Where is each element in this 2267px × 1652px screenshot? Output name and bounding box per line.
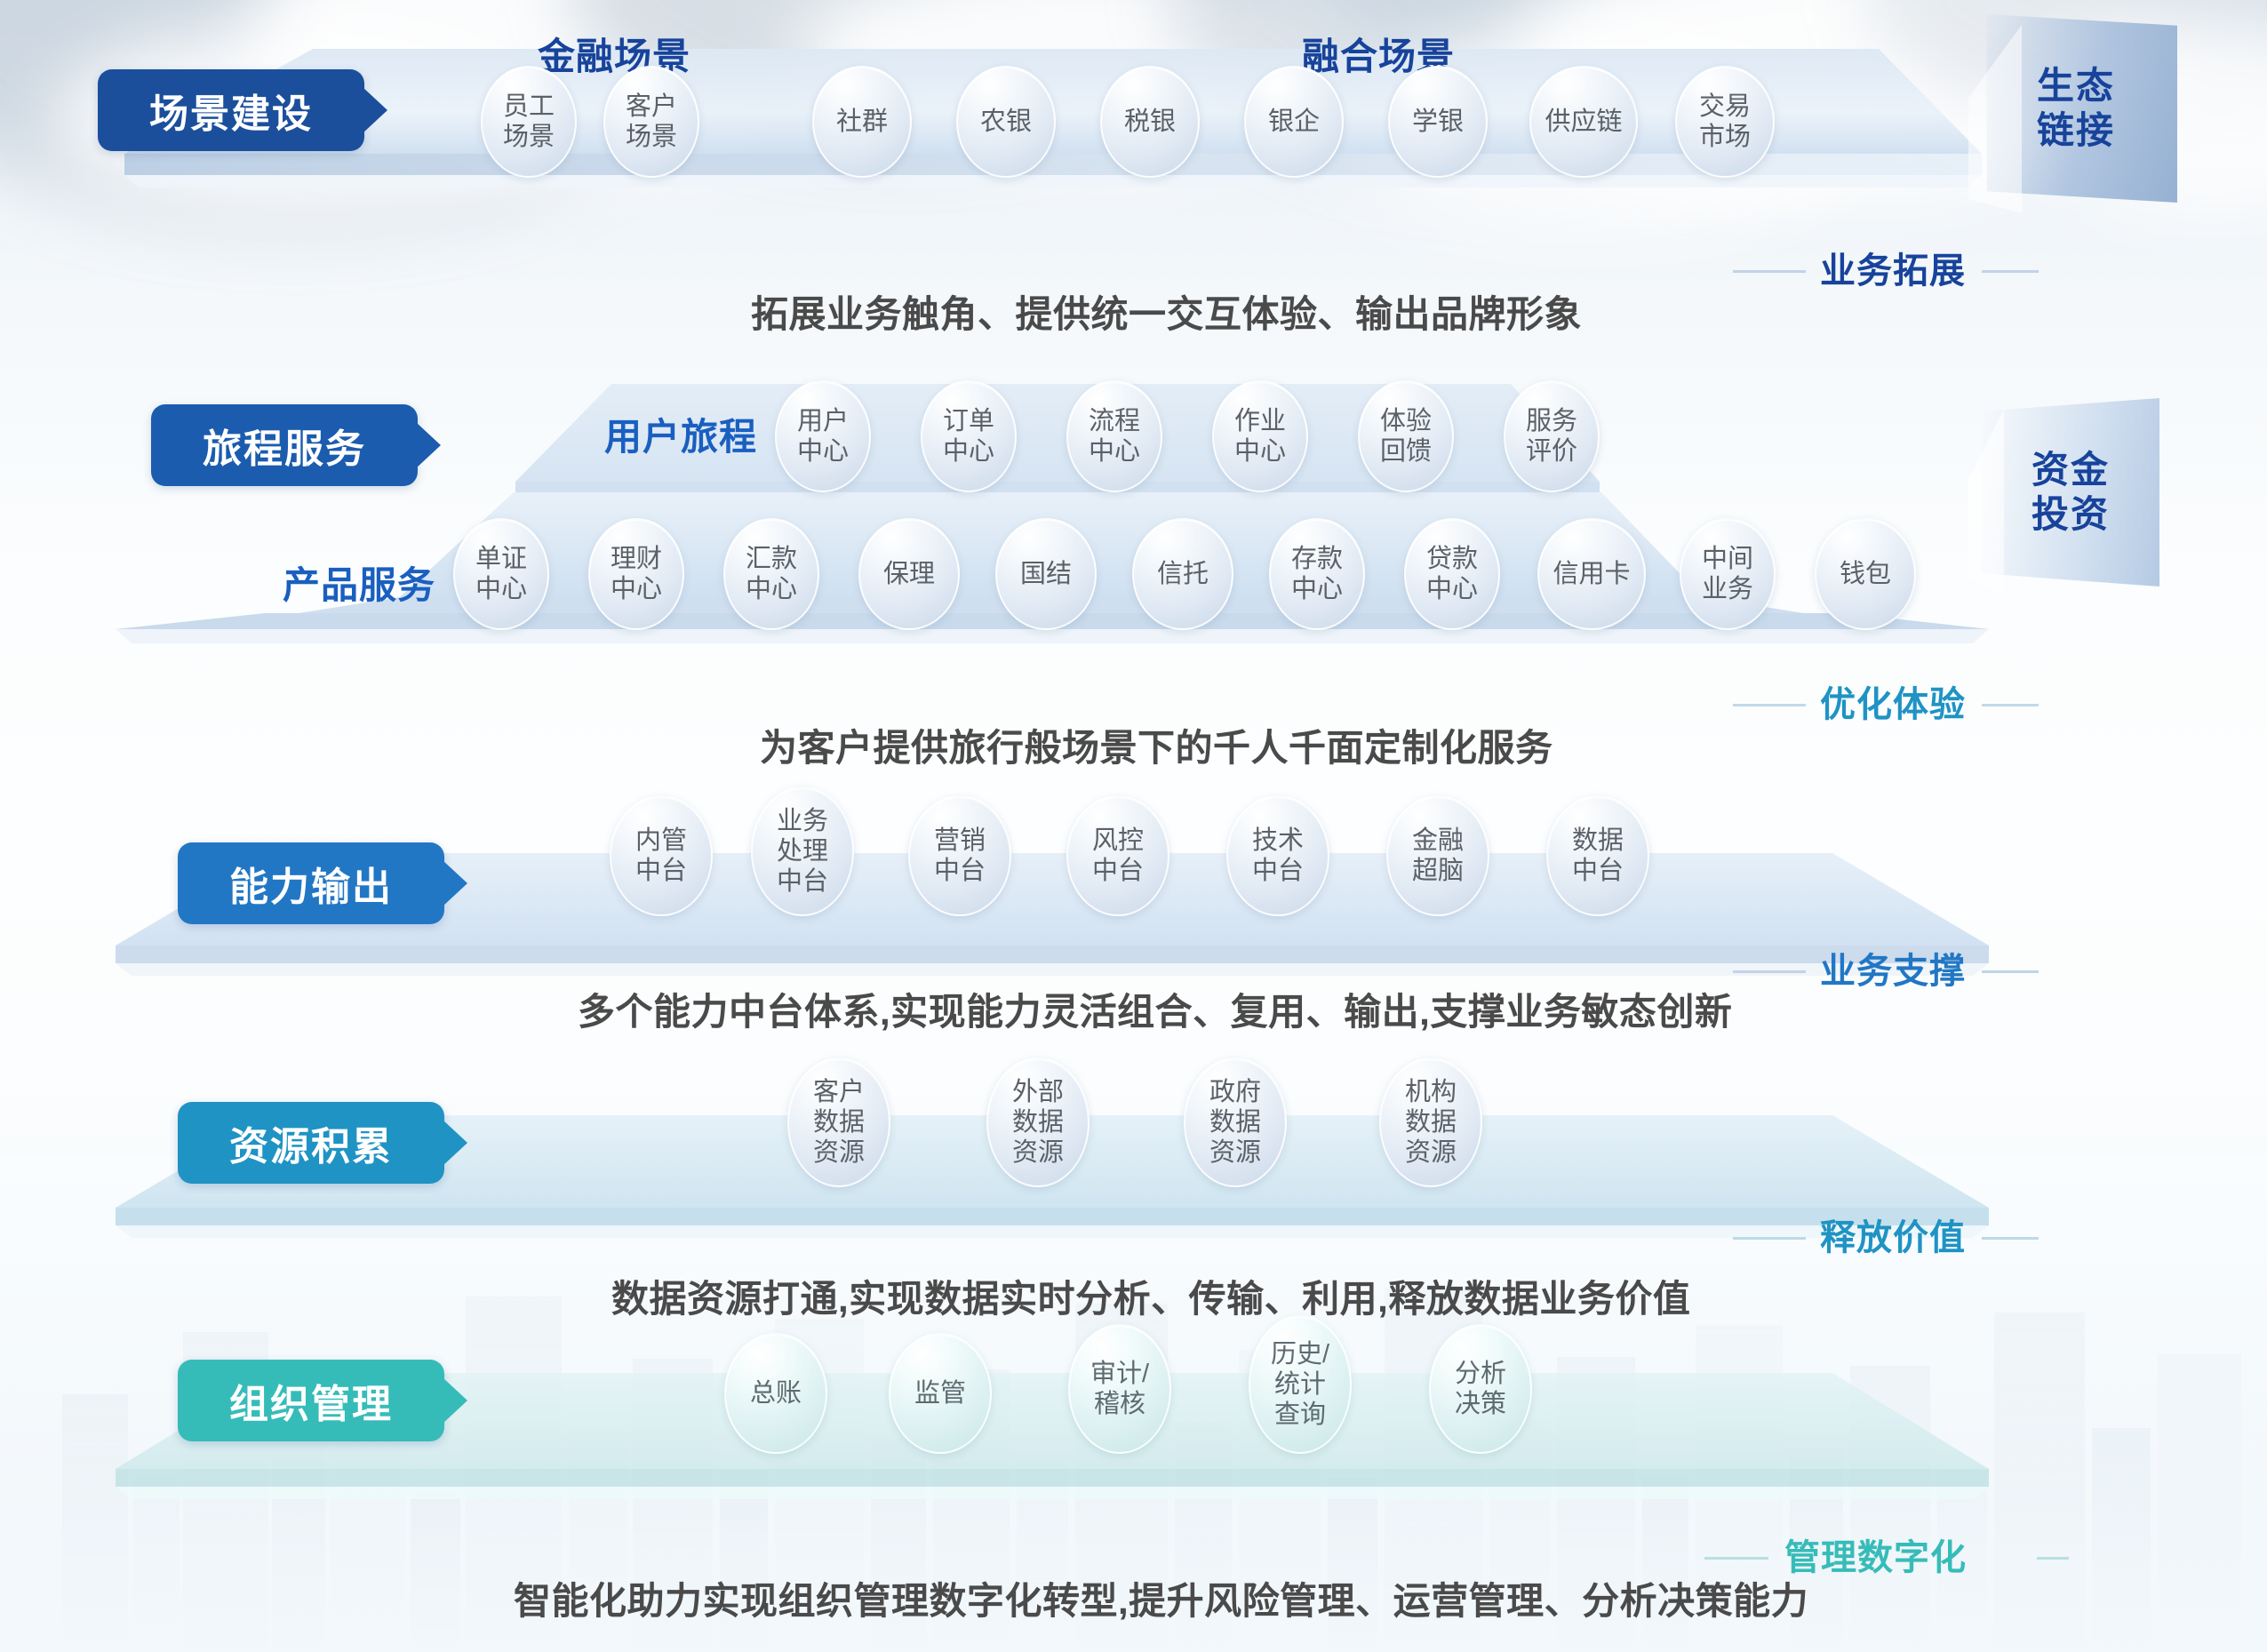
node-product-4[interactable]: 国结 [995, 518, 1097, 630]
node-finance-scene-0[interactable]: 员工 场景 [481, 66, 577, 178]
node-product-10[interactable]: 钱包 [1815, 518, 1916, 630]
node-line: 回馈 [1380, 436, 1432, 467]
node-line: 中台 [934, 856, 986, 886]
node-line: 总账 [750, 1378, 802, 1409]
node-line: 税银 [1124, 107, 1176, 137]
node-line: 钱包 [1840, 559, 1891, 589]
node-line: 信托 [1157, 559, 1209, 589]
tier-label: 场景建设 [149, 82, 313, 139]
node-line: 中台 [1252, 856, 1304, 886]
node-line: 贷款 [1426, 544, 1478, 574]
node-product-1[interactable]: 理财 中心 [588, 518, 684, 630]
tier-badge-scene[interactable]: 场景建设 [98, 69, 364, 151]
edge-rule-right-digital [2037, 1557, 2069, 1560]
node-line: 决策 [1455, 1389, 1506, 1419]
node-product-9[interactable]: 中间 业务 [1680, 518, 1776, 630]
node-user-journey-4[interactable]: 体验 回馈 [1358, 380, 1454, 492]
node-line: 国结 [1020, 559, 1072, 589]
node-line: 中心 [1089, 436, 1140, 467]
ribbon-line: 资金 [2032, 449, 2110, 491]
ribbon-line: 生态 [2037, 65, 2115, 107]
node-line: 汇款 [746, 544, 797, 574]
node-line: 中台 [635, 856, 687, 886]
tier-badge-journey[interactable]: 旅程服务 [151, 404, 418, 486]
node-org-2[interactable]: 审计/ 稽核 [1068, 1324, 1171, 1454]
edge-label-optimize: 优化体验 [1820, 675, 1966, 727]
edge-rule-left-optimize [1733, 704, 1806, 706]
node-fusion-scene-6[interactable]: 交易 市场 [1675, 66, 1775, 178]
node-user-journey-2[interactable]: 流程 中心 [1066, 380, 1162, 492]
node-line: 统计 [1271, 1369, 1329, 1400]
node-line: 业务 [777, 806, 828, 836]
ribbon-text: 资金 投资 [2032, 448, 2110, 536]
node-line: 资源 [1209, 1137, 1261, 1168]
node-product-7[interactable]: 贷款 中心 [1404, 518, 1500, 630]
edge-rule-left-value [1733, 1237, 1806, 1240]
node-line: 风控 [1092, 826, 1144, 856]
node-resource-1[interactable]: 外部 数据 资源 [986, 1057, 1090, 1187]
node-fusion-scene-5[interactable]: 供应链 [1529, 66, 1638, 178]
node-line: 资源 [1405, 1137, 1457, 1168]
edge-label-expand: 业务拓展 [1820, 242, 1966, 293]
node-capability-6[interactable]: 数据 中台 [1546, 795, 1649, 916]
node-line: 营销 [934, 826, 986, 856]
node-capability-4[interactable]: 技术 中台 [1226, 795, 1329, 916]
node-line: 交易 [1699, 92, 1751, 122]
node-user-journey-5[interactable]: 服务 评价 [1504, 380, 1600, 492]
node-line: 评价 [1526, 436, 1577, 467]
node-line: 业务 [1702, 574, 1753, 604]
node-line: 资源 [1012, 1137, 1064, 1168]
edge-label-value: 释放价值 [1820, 1209, 1966, 1260]
node-fusion-scene-1[interactable]: 农银 [956, 66, 1056, 178]
tier-badge-org[interactable]: 组织管理 [178, 1360, 444, 1441]
edge-label-support: 业务支撑 [1820, 942, 1966, 994]
node-line: 中心 [1426, 574, 1478, 604]
node-line: 数据 [1012, 1107, 1064, 1137]
edge-rule-left-support [1733, 970, 1806, 973]
node-fusion-scene-4[interactable]: 学银 [1388, 66, 1488, 178]
node-capability-2[interactable]: 营销 中台 [908, 795, 1011, 916]
node-line: 社群 [836, 107, 888, 137]
node-product-2[interactable]: 汇款 中心 [723, 518, 819, 630]
node-capability-3[interactable]: 风控 中台 [1066, 795, 1169, 916]
node-line: 外部 [1012, 1077, 1064, 1107]
node-line: 处理 [777, 836, 828, 866]
node-capability-1[interactable]: 业务 处理 中台 [751, 786, 854, 916]
node-line: 服务 [1526, 406, 1577, 436]
node-line: 技术 [1252, 826, 1304, 856]
node-line: 中间 [1702, 544, 1753, 574]
row-label-user-journey: 用户旅程 [604, 407, 757, 461]
node-product-3[interactable]: 保理 [858, 518, 960, 630]
node-line: 流程 [1089, 406, 1140, 436]
node-line: 数据 [1572, 826, 1624, 856]
node-user-journey-1[interactable]: 订单 中心 [921, 380, 1017, 492]
node-capability-5[interactable]: 金融 超脑 [1386, 795, 1489, 916]
row-label-product-service: 产品服务 [283, 555, 435, 610]
node-line: 数据 [813, 1107, 865, 1137]
edge-label-digital: 管理数字化 [1784, 1528, 1967, 1580]
node-line: 资源 [813, 1137, 865, 1168]
node-product-6[interactable]: 存款 中心 [1269, 518, 1365, 630]
architecture-diagram: 场景建设 金融场景 融合场景 员工 场景 客户 场景 社群 农银 税银 银企 学… [0, 0, 2267, 1652]
node-line: 理财 [611, 544, 662, 574]
edge-rule-right-expand [1982, 270, 2039, 273]
ribbon-line: 投资 [2032, 493, 2110, 535]
node-product-0[interactable]: 单证 中心 [453, 518, 549, 630]
edge-rule-right-optimize [1982, 704, 2039, 706]
ribbon-text: 生态 链接 [2037, 64, 2115, 152]
node-user-journey-3[interactable]: 作业 中心 [1212, 380, 1308, 492]
edge-rule-right-value [1982, 1237, 2039, 1240]
node-line: 内管 [635, 826, 687, 856]
node-finance-scene-1[interactable]: 客户 场景 [603, 66, 699, 178]
node-line: 中心 [797, 436, 849, 467]
node-line: 供应链 [1545, 107, 1622, 137]
node-line: 场景 [626, 122, 677, 152]
node-line: 单证 [475, 544, 527, 574]
node-line: 中台 [1572, 856, 1624, 886]
node-fusion-scene-0[interactable]: 社群 [812, 66, 912, 178]
node-line: 稽核 [1090, 1389, 1149, 1419]
node-line: 银企 [1268, 107, 1320, 137]
node-line: 保理 [883, 559, 935, 589]
tier-label: 能力输出 [229, 855, 393, 912]
node-line: 监管 [914, 1378, 966, 1409]
node-line: 金融 [1412, 826, 1464, 856]
node-org-0[interactable]: 总账 [724, 1333, 827, 1454]
node-line: 中心 [1234, 436, 1286, 467]
node-line: 中心 [1291, 574, 1343, 604]
edge-rule-left-digital [1704, 1557, 1768, 1560]
edge-rule-left-expand [1733, 270, 1806, 273]
tier-badge-capability[interactable]: 能力输出 [178, 842, 444, 924]
edge-rule-right-support [1982, 970, 2039, 973]
caption-org: 智能化助力实现组织管理数字化转型,提升风险管理、运营管理、分析决策能力 [514, 1571, 1808, 1625]
node-line: 超脑 [1412, 856, 1464, 886]
node-line: 中心 [746, 574, 797, 604]
node-line: 数据 [1405, 1107, 1457, 1137]
node-line: 员工 [503, 92, 555, 122]
node-line: 中心 [475, 574, 527, 604]
node-capability-0[interactable]: 内管 中台 [610, 795, 713, 916]
node-line: 学银 [1412, 107, 1464, 137]
tier-label: 资源积累 [229, 1114, 393, 1171]
caption-scene: 拓展业务触角、提供统一交互体验、输出品牌形象 [751, 284, 1582, 339]
node-line: 市场 [1699, 122, 1751, 152]
node-line: 历史/ [1271, 1339, 1329, 1369]
node-user-journey-0[interactable]: 用户 中心 [775, 380, 871, 492]
node-line: 中台 [777, 866, 828, 897]
node-line: 订单 [943, 406, 994, 436]
node-org-4[interactable]: 分析 决策 [1429, 1324, 1532, 1454]
node-line: 存款 [1291, 544, 1343, 574]
ribbon-line: 链接 [2037, 109, 2115, 151]
tier-label: 旅程服务 [203, 417, 366, 474]
node-fusion-scene-3[interactable]: 银企 [1244, 66, 1344, 178]
node-org-3[interactable]: 历史/ 统计 查询 [1249, 1315, 1352, 1454]
node-line: 中心 [611, 574, 662, 604]
node-line: 客户 [813, 1077, 865, 1107]
node-line: 用户 [797, 406, 849, 436]
node-product-8[interactable]: 信用卡 [1537, 518, 1646, 630]
caption-resource: 数据资源打通,实现数据实时分析、传输、利用,释放数据业务价值 [611, 1269, 1690, 1323]
node-line: 作业 [1234, 406, 1286, 436]
node-line: 体验 [1380, 406, 1432, 436]
node-line: 数据 [1209, 1107, 1261, 1137]
caption-journey: 为客户提供旅行般场景下的千人千面定制化服务 [760, 718, 1553, 772]
node-fusion-scene-2[interactable]: 税银 [1100, 66, 1200, 178]
node-line: 信用卡 [1553, 559, 1630, 589]
node-line: 客户 [626, 92, 677, 122]
node-line: 中心 [943, 436, 994, 467]
node-product-5[interactable]: 信托 [1132, 518, 1233, 630]
tier-badge-resource[interactable]: 资源积累 [178, 1102, 444, 1184]
node-line: 分析 [1455, 1359, 1506, 1389]
caption-capability: 多个能力中台体系,实现能力灵活组合、复用、输出,支撑业务敏态创新 [578, 982, 1732, 1036]
node-resource-3[interactable]: 机构 数据 资源 [1379, 1057, 1482, 1187]
node-line: 审计/ [1090, 1359, 1149, 1389]
node-line: 查询 [1271, 1400, 1329, 1430]
tier-label: 组织管理 [229, 1372, 393, 1429]
node-line: 政府 [1209, 1077, 1261, 1107]
node-resource-2[interactable]: 政府 数据 资源 [1184, 1057, 1287, 1187]
node-resource-0[interactable]: 客户 数据 资源 [787, 1057, 890, 1187]
node-line: 中台 [1092, 856, 1144, 886]
node-line: 场景 [503, 122, 555, 152]
node-org-1[interactable]: 监管 [889, 1333, 992, 1454]
node-line: 农银 [980, 107, 1032, 137]
node-line: 机构 [1405, 1077, 1457, 1107]
